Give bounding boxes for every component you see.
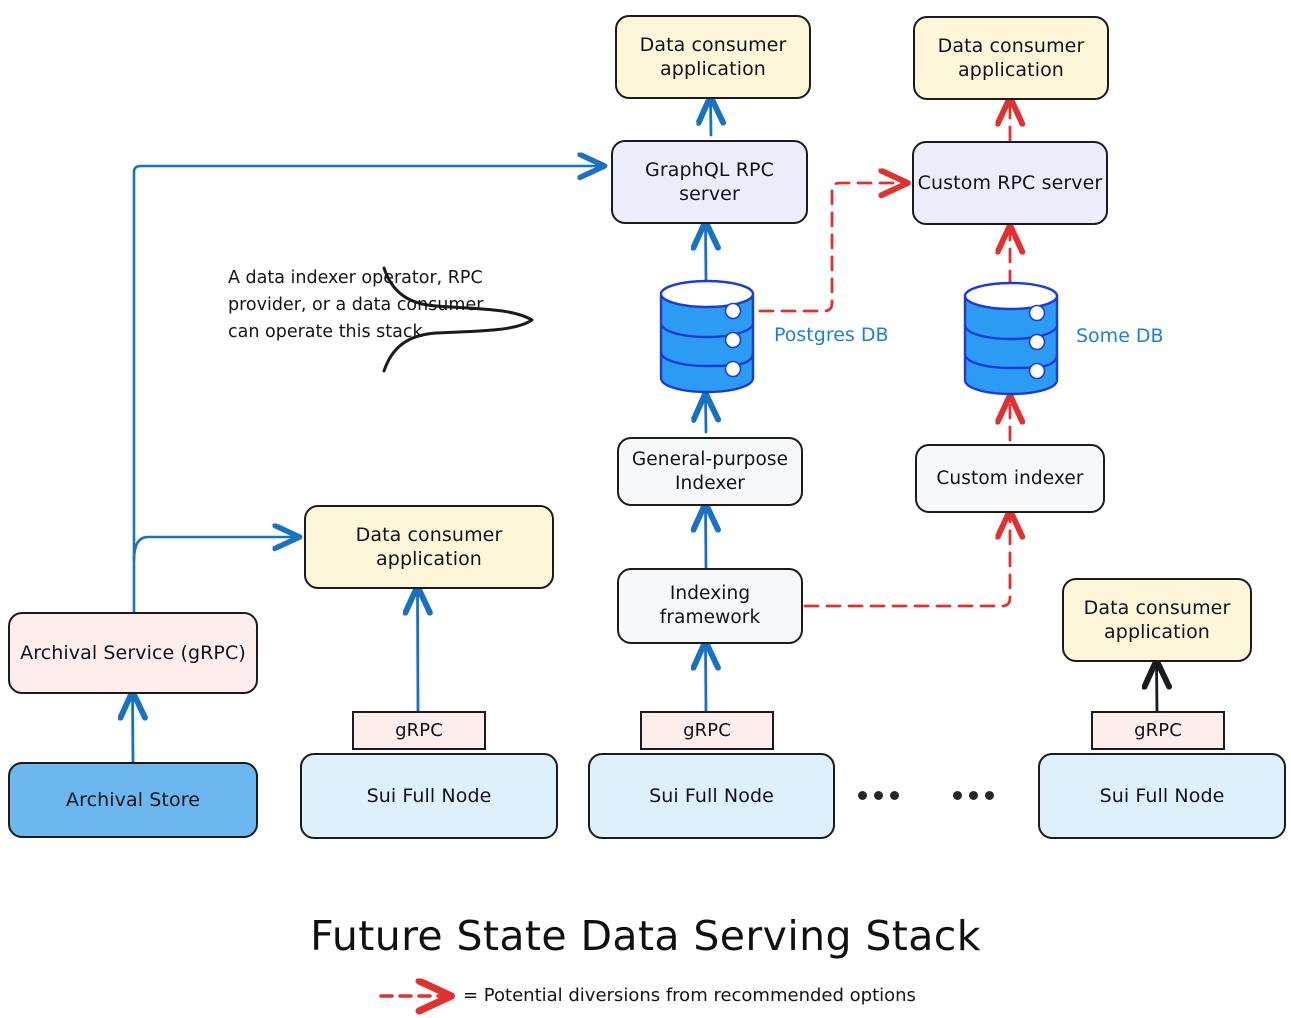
arrow-graphql-to-consumer: [711, 99, 712, 135]
node-grpc-2[interactable]: gRPC: [640, 711, 774, 750]
page-title: Future State Data Serving Stack: [0, 912, 1291, 960]
arrow-store-to-archival-service: [133, 694, 134, 762]
postgres-db-label: Postgres DB: [774, 324, 889, 346]
node-sui-full-node-3[interactable]: Sui Full Node: [1038, 753, 1286, 839]
node-data-consumer-graphql[interactable]: Data consumer application: [615, 15, 811, 99]
legend-label: = Potential diversions from recommended …: [463, 985, 916, 1006]
ellipsis-dot: [874, 791, 883, 800]
diagram-canvas: Data consumer application Data consumer …: [0, 0, 1291, 1018]
node-sui-full-node-1[interactable]: Sui Full Node: [300, 753, 558, 839]
some-db-label: Some DB: [1076, 325, 1164, 347]
ellipsis-right: [953, 791, 994, 800]
node-custom-rpc-server[interactable]: Custom RPC server: [912, 141, 1108, 225]
node-archival-service[interactable]: Archival Service (gRPC): [8, 612, 258, 694]
arrow-grpc1-to-consumer-left: [418, 589, 419, 712]
arrow-indexer-to-postgres: [706, 396, 707, 432]
node-sui-full-node-2[interactable]: Sui Full Node: [588, 753, 835, 839]
postgres-db-icon: [657, 278, 757, 394]
ellipsis-dot: [953, 791, 962, 800]
ellipsis-left: [858, 791, 899, 800]
ellipsis-dot: [969, 791, 978, 800]
arrow-framework-to-indexer: [706, 506, 707, 568]
node-grpc-1[interactable]: gRPC: [352, 711, 486, 750]
ellipsis-dot: [858, 791, 867, 800]
node-archival-store[interactable]: Archival Store: [8, 762, 258, 838]
node-graphql-rpc-server[interactable]: GraphQL RPC server: [611, 140, 808, 224]
arrow-framework-to-custom-indexer: [805, 513, 1010, 606]
node-data-consumer-custom[interactable]: Data consumer application: [913, 16, 1109, 100]
node-data-consumer-right[interactable]: Data consumer application: [1062, 578, 1252, 662]
some-db-icon: [961, 280, 1061, 396]
ellipsis-dot: [890, 791, 899, 800]
arrow-postgres-to-graphql: [706, 224, 707, 283]
arrow-grpc2-to-framework: [706, 644, 707, 712]
node-grpc-3[interactable]: gRPC: [1091, 711, 1225, 750]
node-custom-indexer[interactable]: Custom indexer: [915, 444, 1105, 513]
node-general-purpose-indexer[interactable]: General-purpose Indexer: [617, 437, 803, 506]
arrow-archival-to-consumer-left: [134, 537, 297, 560]
ellipsis-dot: [985, 791, 994, 800]
node-indexing-framework[interactable]: Indexing framework: [617, 568, 803, 644]
arrow-grpc3-to-consumer-right: [1157, 663, 1158, 712]
node-data-consumer-left[interactable]: Data consumer application: [304, 505, 554, 589]
stack-operator-annotation: A data indexer operator, RPC provider, o…: [228, 265, 518, 346]
